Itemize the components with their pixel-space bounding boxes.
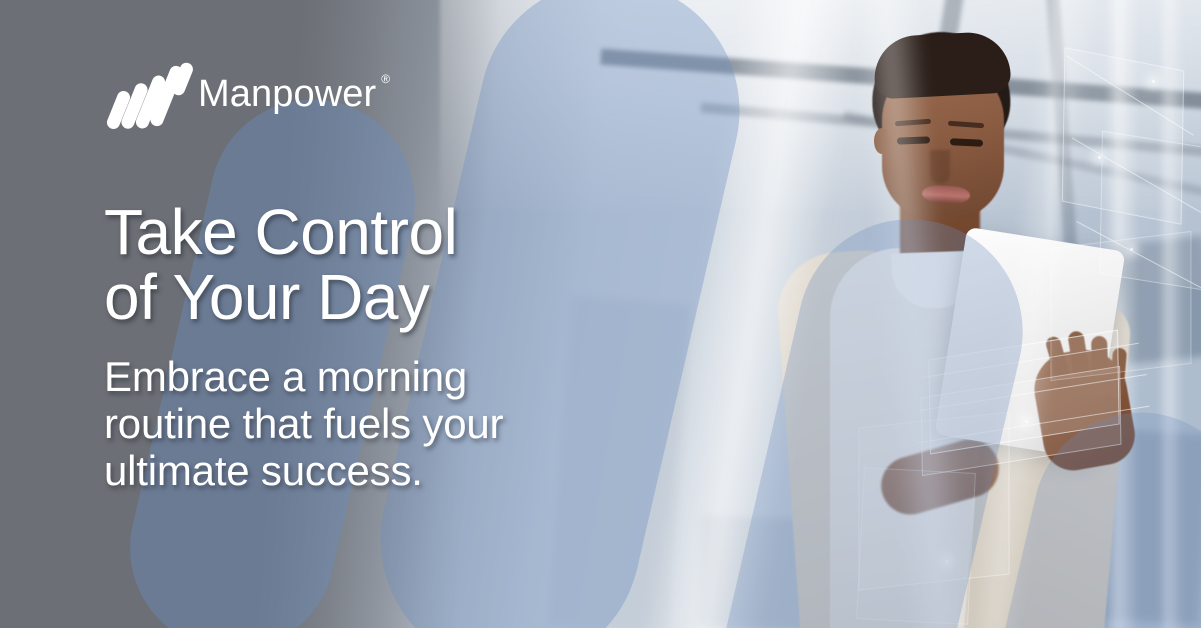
brand-wordmark: Manpower® (198, 75, 376, 113)
headline: Take Control of Your Day (104, 200, 664, 331)
brand-wordmark-text: Manpower (198, 73, 376, 115)
manpower-bars-logo-icon (112, 62, 184, 126)
light-flare (1098, 156, 1101, 159)
overlay-grid-block (1051, 231, 1192, 381)
copy-block: Take Control of Your Day Embrace a morni… (104, 200, 664, 494)
light-flare (1130, 248, 1133, 251)
manpower-promo-banner: Manpower® Take Control of Your Day Embra… (0, 0, 1201, 628)
light-flare (1152, 80, 1155, 83)
manpower-logo[interactable]: Manpower® (112, 62, 376, 126)
subheadline: Embrace a morning routine that fuels you… (104, 353, 664, 494)
registered-trademark-icon: ® (381, 73, 390, 85)
